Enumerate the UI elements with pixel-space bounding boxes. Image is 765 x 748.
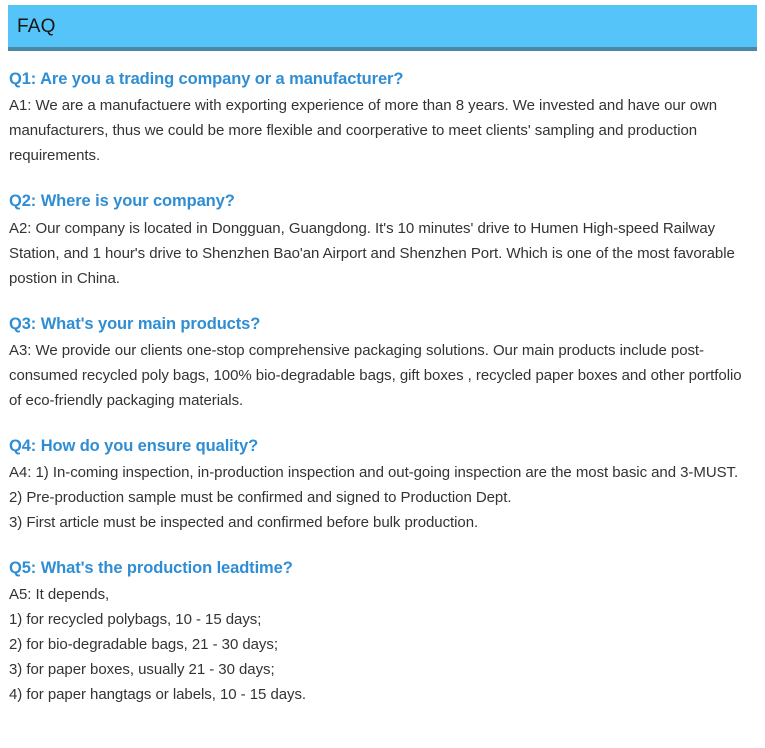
faq-answer-line: 1) for recycled polybags, 10 - 15 days; (9, 607, 754, 632)
faq-question: Q3: What's your main products? (9, 313, 754, 335)
faq-answer: A1: We are a manufactuere with exporting… (9, 93, 754, 168)
faq-answer-line: A2: Our company is located in Dongguan, … (9, 216, 754, 291)
faq-header-bar: FAQ (8, 5, 757, 51)
faq-answer-line: 3) First article must be inspected and c… (9, 510, 754, 535)
faq-list: Q1: Are you a trading company or a manuf… (9, 68, 754, 707)
faq-question: Q2: Where is your company? (9, 190, 754, 212)
faq-answer-line: 2) for bio-degradable bags, 21 - 30 days… (9, 632, 754, 657)
faq-answer-line: 2) Pre-production sample must be confirm… (9, 485, 754, 510)
faq-question: Q1: Are you a trading company or a manuf… (9, 68, 754, 90)
faq-question: Q5: What's the production leadtime? (9, 557, 754, 579)
faq-answer: A4: 1) In-coming inspection, in-producti… (9, 460, 754, 535)
faq-answer-line: A4: 1) In-coming inspection, in-producti… (9, 460, 754, 485)
faq-answer: A2: Our company is located in Dongguan, … (9, 216, 754, 291)
faq-item: Q2: Where is your company?A2: Our compan… (9, 190, 754, 290)
faq-answer-line: 3) for paper boxes, usually 21 - 30 days… (9, 657, 754, 682)
faq-answer: A5: It depends,1) for recycled polybags,… (9, 582, 754, 707)
faq-answer-line: A5: It depends, (9, 582, 754, 607)
faq-answer: A3: We provide our clients one-stop comp… (9, 338, 754, 413)
faq-question: Q4: How do you ensure quality? (9, 435, 754, 457)
faq-item: Q1: Are you a trading company or a manuf… (9, 68, 754, 168)
faq-answer-line: A1: We are a manufactuere with exporting… (9, 93, 754, 168)
faq-page: FAQ Q1: Are you a trading company or a m… (0, 0, 765, 748)
faq-answer-line: A3: We provide our clients one-stop comp… (9, 338, 754, 413)
faq-item: Q3: What's your main products?A3: We pro… (9, 313, 754, 413)
faq-answer-line: 4) for paper hangtags or labels, 10 - 15… (9, 682, 754, 707)
faq-item: Q4: How do you ensure quality?A4: 1) In-… (9, 435, 754, 535)
page-title: FAQ (8, 17, 56, 36)
faq-item: Q5: What's the production leadtime?A5: I… (9, 557, 754, 707)
